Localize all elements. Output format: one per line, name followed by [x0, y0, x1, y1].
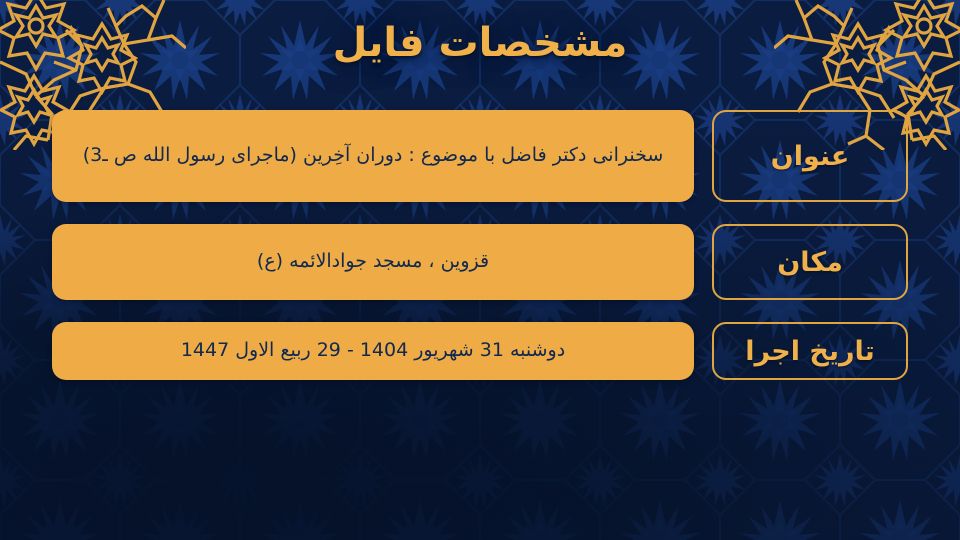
value-title: سخنرانی دکتر فاضل با موضوع : دوران آخِری… [52, 110, 694, 202]
info-row-title: عنوان سخنرانی دکتر فاضل با موضوع : دوران… [52, 110, 908, 202]
info-row-place: مکان قزوین ، مسجد جوادالائمه (ع) [52, 224, 908, 300]
info-row-date: تاریخ اجرا دوشنبه 31 شهریور 1404 - 29 رب… [52, 322, 908, 380]
value-place-text: قزوین ، مسجد جوادالائمه (ع) [257, 247, 489, 276]
value-place: قزوین ، مسجد جوادالائمه (ع) [52, 224, 694, 300]
label-title: عنوان [712, 110, 908, 202]
value-title-text: سخنرانی دکتر فاضل با موضوع : دوران آخِری… [83, 141, 664, 170]
file-info-rows: عنوان سخنرانی دکتر فاضل با موضوع : دوران… [52, 110, 908, 402]
value-date: دوشنبه 31 شهریور 1404 - 29 ربیع الاول 14… [52, 322, 694, 380]
value-date-text: دوشنبه 31 شهریور 1404 - 29 ربیع الاول 14… [181, 336, 565, 365]
label-place: مکان [712, 224, 908, 300]
label-date: تاریخ اجرا [712, 322, 908, 380]
file-info-slide: مشخصات فایل عنوان سخنرانی دکتر فاضل با م… [0, 0, 960, 540]
